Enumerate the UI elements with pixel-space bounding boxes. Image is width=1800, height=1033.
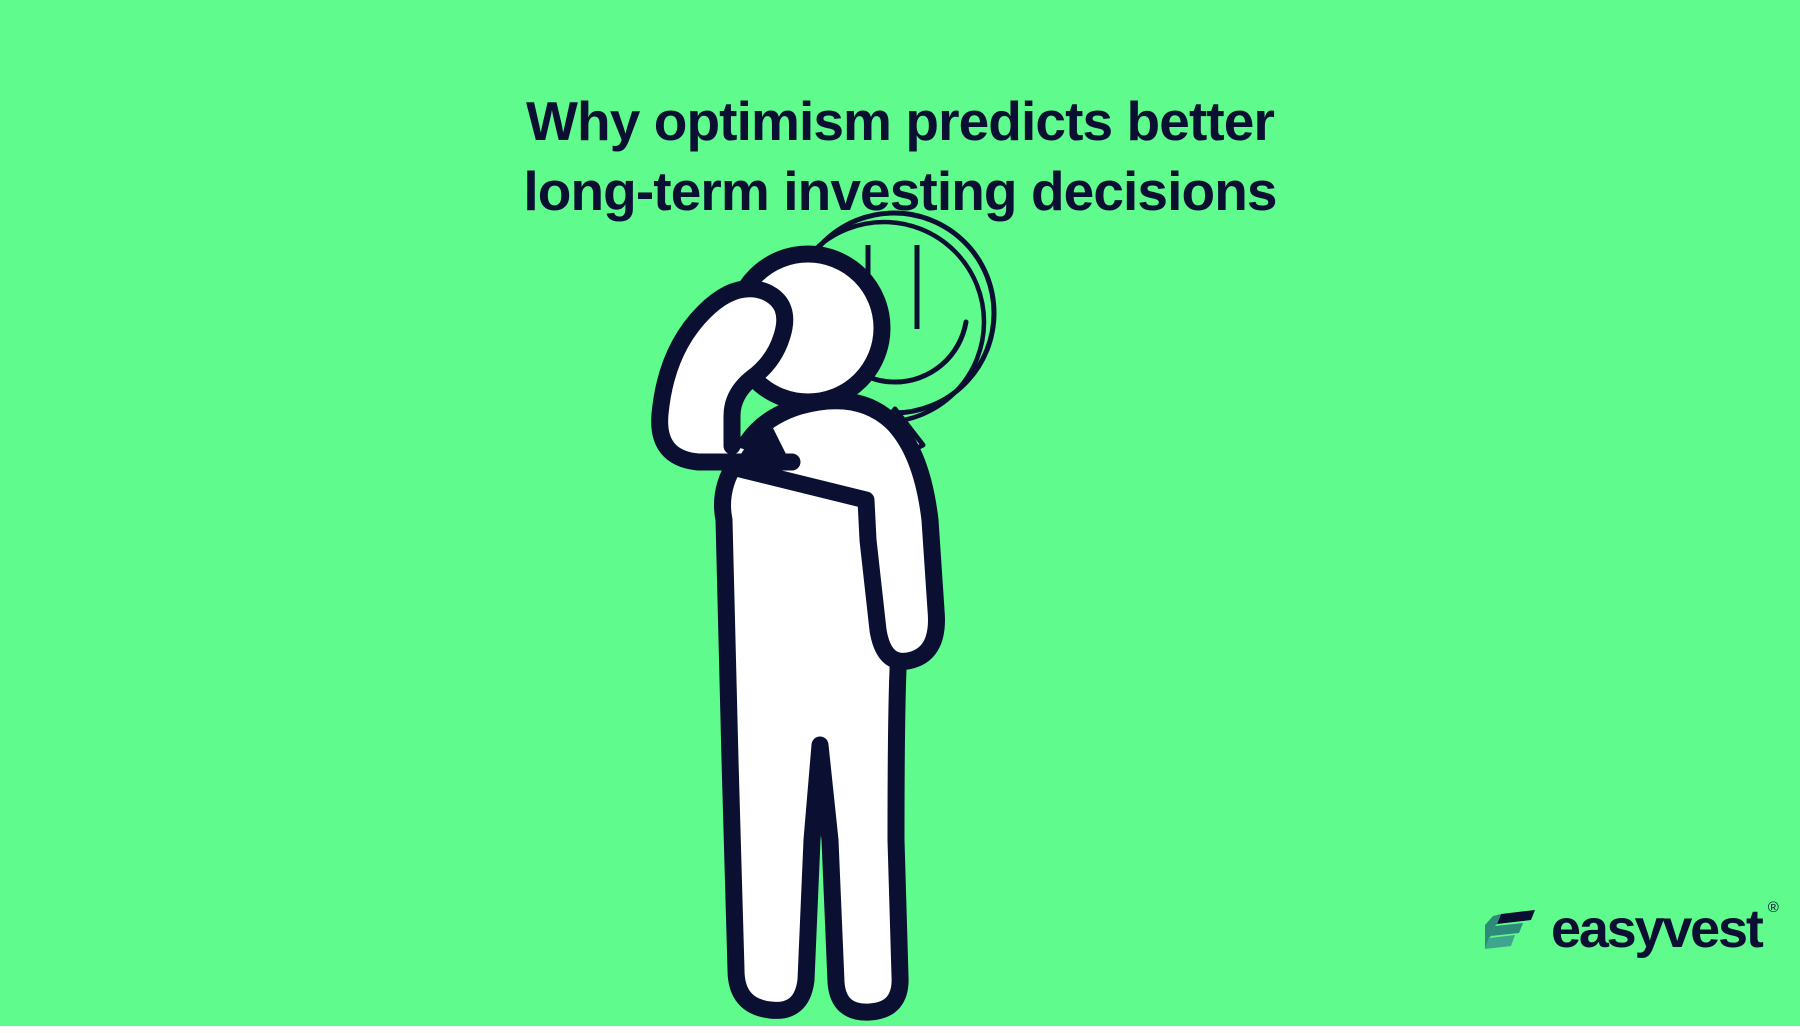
easyvest-logo[interactable]: easyvest ® [1485, 898, 1735, 960]
headline-line-1: Why optimism predicts better [0, 86, 1800, 156]
social-card-canvas: Why optimism predicts better long-term i… [0, 0, 1800, 1033]
figure-body [660, 254, 937, 1012]
logo-bar-top [1497, 910, 1535, 924]
easyvest-e-mark-icon [1485, 905, 1537, 953]
easyvest-wordmark-text: easyvest [1551, 899, 1762, 959]
easyvest-wordmark: easyvest ® [1551, 902, 1762, 956]
registered-trademark-icon: ® [1768, 900, 1777, 915]
illustration-person-with-balloon [640, 200, 1200, 1030]
